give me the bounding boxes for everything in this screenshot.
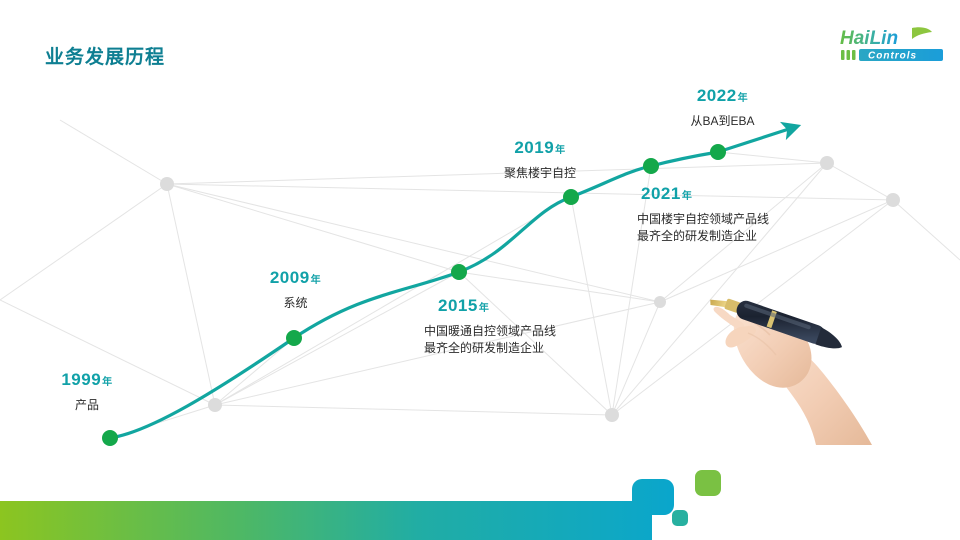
milestone-desc: 中国楼宇自控领域产品线 最齐全的研发制造企业 <box>637 211 769 245</box>
milestone-2021[interactable]: 2021年 中国楼宇自控领域产品线 最齐全的研发制造企业 <box>637 184 769 245</box>
timeline-dot-2019 <box>563 189 579 205</box>
deco-square-green <box>695 470 721 496</box>
page-title: 业务发展历程 <box>45 42 165 69</box>
svg-text:Controls: Controls <box>868 51 917 62</box>
milestone-desc: 产品 <box>32 397 142 414</box>
milestone-2009[interactable]: 2009年 系统 <box>238 268 353 312</box>
bottom-decoration-bar <box>0 455 960 540</box>
milestone-2015[interactable]: 2015年 中国暖通自控领域产品线 最齐全的研发制造企业 <box>424 296 556 357</box>
hand-holding-pen-icon <box>700 275 900 445</box>
timeline-dot-2015 <box>451 264 467 280</box>
milestone-desc-line: 中国暖通自控领域产品线 <box>424 323 556 340</box>
timeline-dot-1999 <box>102 430 118 446</box>
svg-text:HaiLin: HaiLin <box>840 28 898 49</box>
hailin-controls-logo: HaiLin Controls <box>838 26 950 64</box>
milestone-desc: 从BA到EBA <box>660 113 785 130</box>
milestone-desc: 中国暖通自控领域产品线 最齐全的研发制造企业 <box>424 323 556 357</box>
milestone-year: 1999年 <box>32 370 142 393</box>
milestone-year: 2009年 <box>238 268 353 291</box>
milestone-year: 2015年 <box>424 296 556 319</box>
slide-canvas: 业务发展历程 HaiLin <box>0 0 960 540</box>
timeline-dot-2022 <box>710 144 726 160</box>
deco-square-teal <box>672 510 688 526</box>
milestone-year: 2022年 <box>660 86 785 109</box>
milestone-desc-line: 最齐全的研发制造企业 <box>424 340 556 357</box>
milestone-desc-line: 最齐全的研发制造企业 <box>637 228 769 245</box>
milestone-2019[interactable]: 2019年 聚焦楼宇自控 <box>470 138 610 182</box>
milestone-year: 2021年 <box>637 184 769 207</box>
milestone-year: 2019年 <box>470 138 610 161</box>
milestone-desc-line: 中国楼宇自控领域产品线 <box>637 211 769 228</box>
milestone-desc: 聚焦楼宇自控 <box>470 165 610 182</box>
leaf-icon <box>912 27 932 39</box>
milestone-desc: 系统 <box>238 295 353 312</box>
milestone-2022[interactable]: 2022年 从BA到EBA <box>660 86 785 130</box>
timeline-dot-2021 <box>643 158 659 174</box>
timeline-dot-2009 <box>286 330 302 346</box>
milestone-1999[interactable]: 1999年 产品 <box>32 370 142 414</box>
